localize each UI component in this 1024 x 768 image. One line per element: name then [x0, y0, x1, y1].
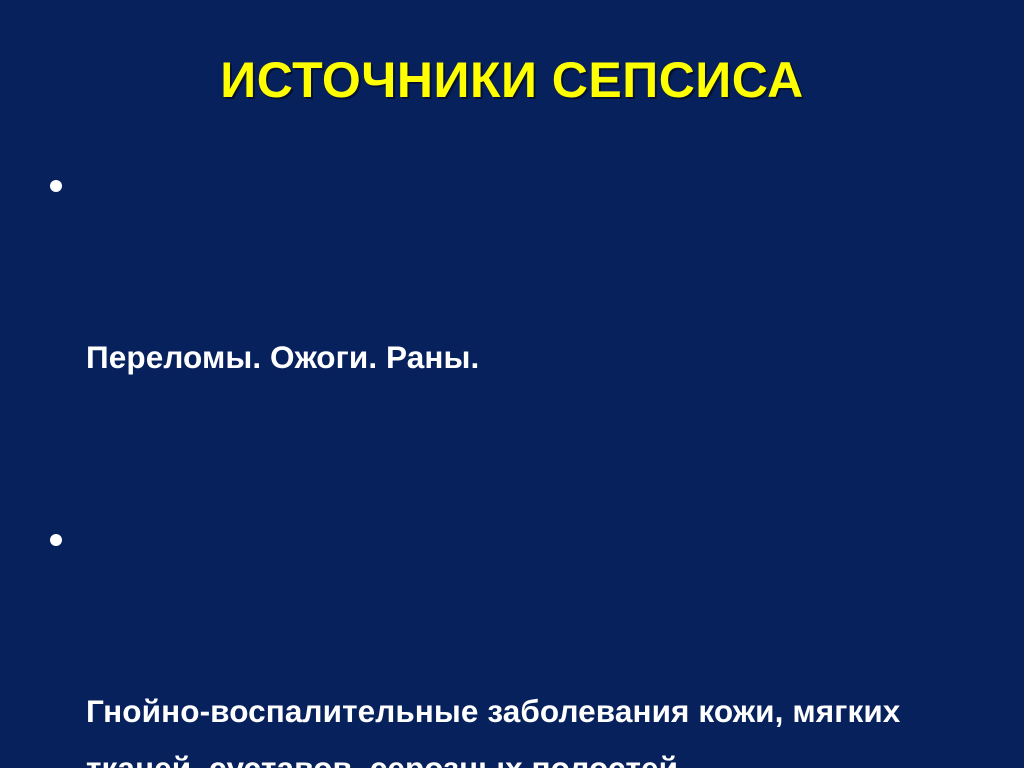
page-title: ИСТОЧНИКИ СЕПСИСА — [0, 52, 1024, 108]
bullet-dot-icon — [50, 534, 62, 546]
bullet-list: Переломы. Ожоги. Раны. Гнойно-воспалител… — [40, 158, 992, 768]
list-item: Гнойно-воспалительные заболевания кожи, … — [40, 512, 992, 768]
list-item: Переломы. Ожоги. Раны. — [40, 158, 992, 500]
presentation-slide: ИСТОЧНИКИ СЕПСИСА Переломы. Ожоги. Раны.… — [0, 0, 1024, 768]
bullet-dot-icon — [50, 180, 62, 192]
list-item-label: Гнойно-воспалительные заболевания кожи, … — [86, 683, 992, 768]
list-item-label: Переломы. Ожоги. Раны. — [86, 329, 992, 386]
